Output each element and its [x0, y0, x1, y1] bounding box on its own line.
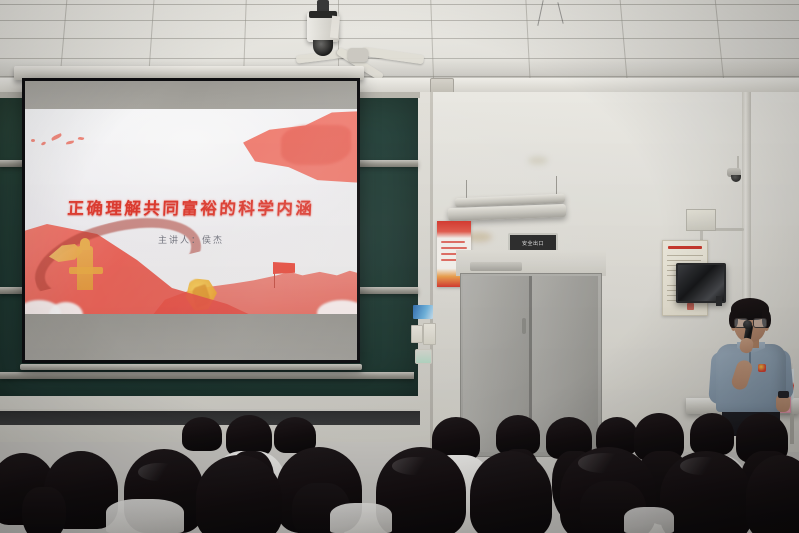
slide-title: 正确理解共同富裕的科学内涵: [25, 195, 357, 219]
power-outlet[interactable]: [423, 323, 436, 345]
audience-head: [196, 455, 282, 533]
projection-screen[interactable]: 正确理解共同富裕的科学内涵 主讲人：侯杰: [22, 78, 360, 363]
audience-head: [690, 413, 734, 455]
red-flag-small: [273, 262, 295, 274]
audience-long-hair: [22, 487, 66, 533]
speaker-badge: [758, 364, 766, 372]
light-switch[interactable]: [411, 325, 423, 343]
bird-icon: [31, 139, 35, 142]
audience-head: [182, 417, 222, 451]
junction-box: [686, 209, 716, 231]
audience: [0, 383, 799, 533]
ceiling-projector: [305, 0, 341, 56]
notice-title: [668, 246, 702, 249]
audience-head: [470, 451, 552, 533]
monument-base: [69, 267, 103, 274]
red-flag-shadow: [281, 125, 351, 165]
classroom-photo: 正确理解共同富裕的科学内涵 主讲人：侯杰 安全出口: [0, 0, 799, 533]
control-panel-display[interactable]: [415, 349, 432, 364]
door-handle[interactable]: [522, 318, 526, 334]
wall-switch-panel[interactable]: [411, 305, 434, 377]
audience-shirt: [624, 507, 674, 533]
blackboard-chalk-tray: [0, 372, 414, 379]
wall-sticker: [413, 305, 433, 319]
door-closer: [470, 262, 522, 271]
exit-sign-label: 安全出口: [522, 240, 544, 247]
slide-subtitle: 主讲人：侯杰: [25, 233, 357, 246]
projection-screen-weight-bar: [20, 364, 362, 370]
audience-shirt: [106, 499, 184, 533]
audience-shirt: [330, 503, 392, 533]
presentation-slide: 正确理解共同富裕的科学内涵 主讲人：侯杰: [25, 109, 357, 314]
